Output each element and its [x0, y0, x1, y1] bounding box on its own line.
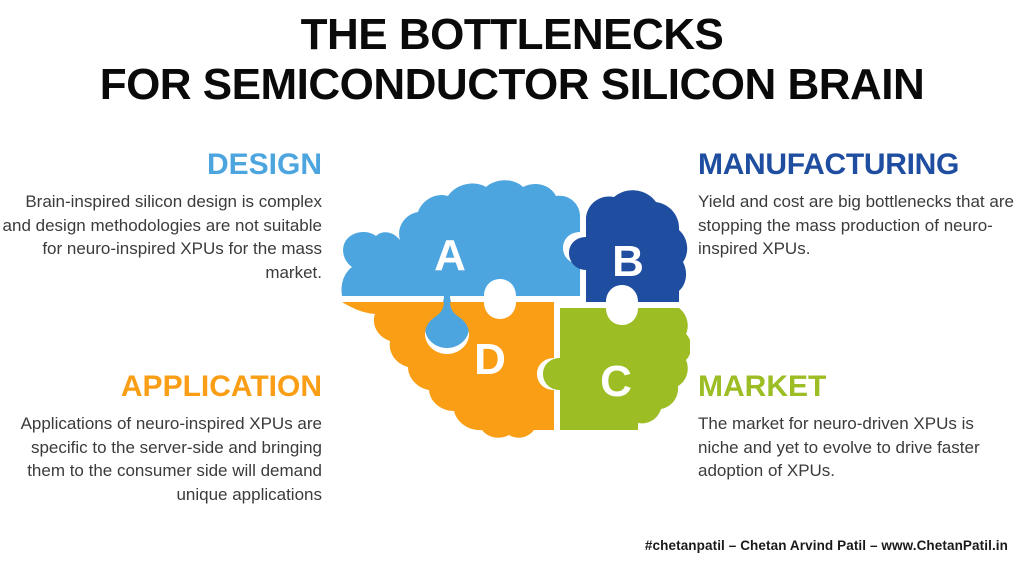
panel-design-heading: DESIGN	[0, 148, 322, 182]
page-title: THE BOTTLENECKS FOR SEMICONDUCTOR SILICO…	[0, 10, 1024, 110]
brain-piece-c: C	[543, 308, 690, 430]
brain-piece-d-label: D	[474, 335, 506, 384]
brain-piece-c-label: C	[600, 357, 632, 406]
brain-puzzle-graphic: A B C D	[338, 178, 690, 443]
brain-piece-a-label: A	[434, 231, 466, 280]
panel-market: MARKET The market for neuro-driven XPUs …	[698, 370, 1018, 483]
panel-manufacturing-heading: MANUFACTURING	[698, 148, 1018, 182]
panel-market-heading: MARKET	[698, 370, 1018, 404]
panel-design-body: Brain-inspired silicon design is complex…	[0, 190, 322, 284]
panel-application-heading: APPLICATION	[0, 370, 322, 404]
panel-application-body: Applications of neuro-inspired XPUs are …	[0, 412, 322, 506]
panel-application: APPLICATION Applications of neuro-inspir…	[0, 370, 322, 506]
panel-manufacturing-body: Yield and cost are big bottlenecks that …	[698, 190, 1018, 261]
footer-credit: #chetanpatil – Chetan Arvind Patil – www…	[0, 538, 1008, 553]
panel-market-body: The market for neuro-driven XPUs is nich…	[698, 412, 1018, 483]
brain-piece-b-label: B	[612, 237, 644, 286]
panel-manufacturing: MANUFACTURING Yield and cost are big bot…	[698, 148, 1018, 261]
title-line-2: FOR SEMICONDUCTOR SILICON BRAIN	[0, 60, 1024, 110]
brain-piece-b: B	[569, 190, 687, 302]
panel-design: DESIGN Brain-inspired silicon design is …	[0, 148, 322, 284]
title-line-1: THE BOTTLENECKS	[0, 10, 1024, 60]
